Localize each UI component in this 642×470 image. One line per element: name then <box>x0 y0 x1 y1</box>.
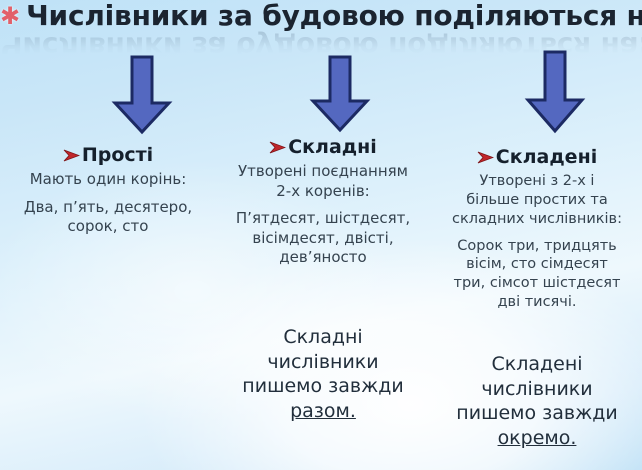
definition-line: Мають один корінь: <box>0 170 216 190</box>
definition-line: 2-х коренів: <box>212 182 434 202</box>
example-line: дві тисячі. <box>432 293 642 312</box>
example-line: Сорок три, тридцять <box>432 237 642 256</box>
conclusion-line: Складені <box>432 352 642 377</box>
column-1-definition: Мають один корінь: <box>0 170 216 190</box>
column-2-definition: Утворені поєднанням 2-х коренів: <box>212 162 434 201</box>
example-line: дев’яносто <box>212 248 434 268</box>
column-2-conclusion: Складні числівники пишемо завжди разом. <box>212 325 434 424</box>
conclusion-keyword: окремо. <box>432 426 642 451</box>
example-line: три, сімсот шістдесят <box>432 274 642 293</box>
column-skladeni: Складені Утворені з 2-х і більше простих… <box>432 146 642 312</box>
conclusion-line: числівники <box>212 350 434 375</box>
conclusion-keyword: разом. <box>212 399 434 424</box>
arrowhead-bullet-icon <box>63 148 80 163</box>
column-1-heading: Прості <box>0 144 216 166</box>
conclusion-line: пишемо завжди <box>212 374 434 399</box>
conclusion-line: пишемо завжди <box>432 401 642 426</box>
asterisk-star-icon: ✱ <box>0 4 20 28</box>
down-arrow-3 <box>518 50 592 134</box>
example-line: вісімдесят, двісті, <box>212 229 434 249</box>
column-3-heading: Складені <box>432 146 642 168</box>
column-3-conclusion: Складені числівники пишемо завжди окремо… <box>432 352 642 451</box>
definition-line: більше простих та <box>432 191 642 210</box>
down-arrow-2 <box>303 55 377 133</box>
column-2-examples: П’ятдесят, шістдесят, вісімдесят, двісті… <box>212 209 434 268</box>
column-2-heading-text: Складні <box>288 136 377 158</box>
down-arrow-1 <box>105 55 179 135</box>
column-skladni: Складні Утворені поєднанням 2-х коренів:… <box>212 136 434 268</box>
conclusion-line: числівники <box>432 377 642 402</box>
definition-line: складних числівників: <box>432 210 642 229</box>
arrowhead-bullet-icon <box>477 150 494 165</box>
example-line: П’ятдесят, шістдесят, <box>212 209 434 229</box>
arrowhead-bullet-icon <box>269 140 286 155</box>
column-1-examples: Два, п’ять, десятеро, сорок, сто <box>0 198 216 237</box>
column-1-heading-text: Прості <box>82 144 153 166</box>
definition-line: Утворені з 2-х і <box>432 172 642 191</box>
column-prosti: Прості Мають один корінь: Два, п’ять, де… <box>0 144 216 237</box>
column-3-examples: Сорок три, тридцять вісім, сто сімдесят … <box>432 237 642 312</box>
conclusion-line: Складні <box>212 325 434 350</box>
example-line: Два, п’ять, десятеро, <box>0 198 216 218</box>
column-3-heading-text: Складені <box>496 146 597 168</box>
definition-line: Утворені поєднанням <box>212 162 434 182</box>
example-line: вісім, сто сімдесят <box>432 255 642 274</box>
slide-canvas: Числівники за будовою поділяються на: ✱ … <box>0 0 642 470</box>
example-line: сорок, сто <box>0 217 216 237</box>
column-3-definition: Утворені з 2-х і більше простих та склад… <box>432 172 642 229</box>
column-2-heading: Складні <box>212 136 434 158</box>
page-title: Числівники за будовою поділяються на: <box>26 2 642 31</box>
